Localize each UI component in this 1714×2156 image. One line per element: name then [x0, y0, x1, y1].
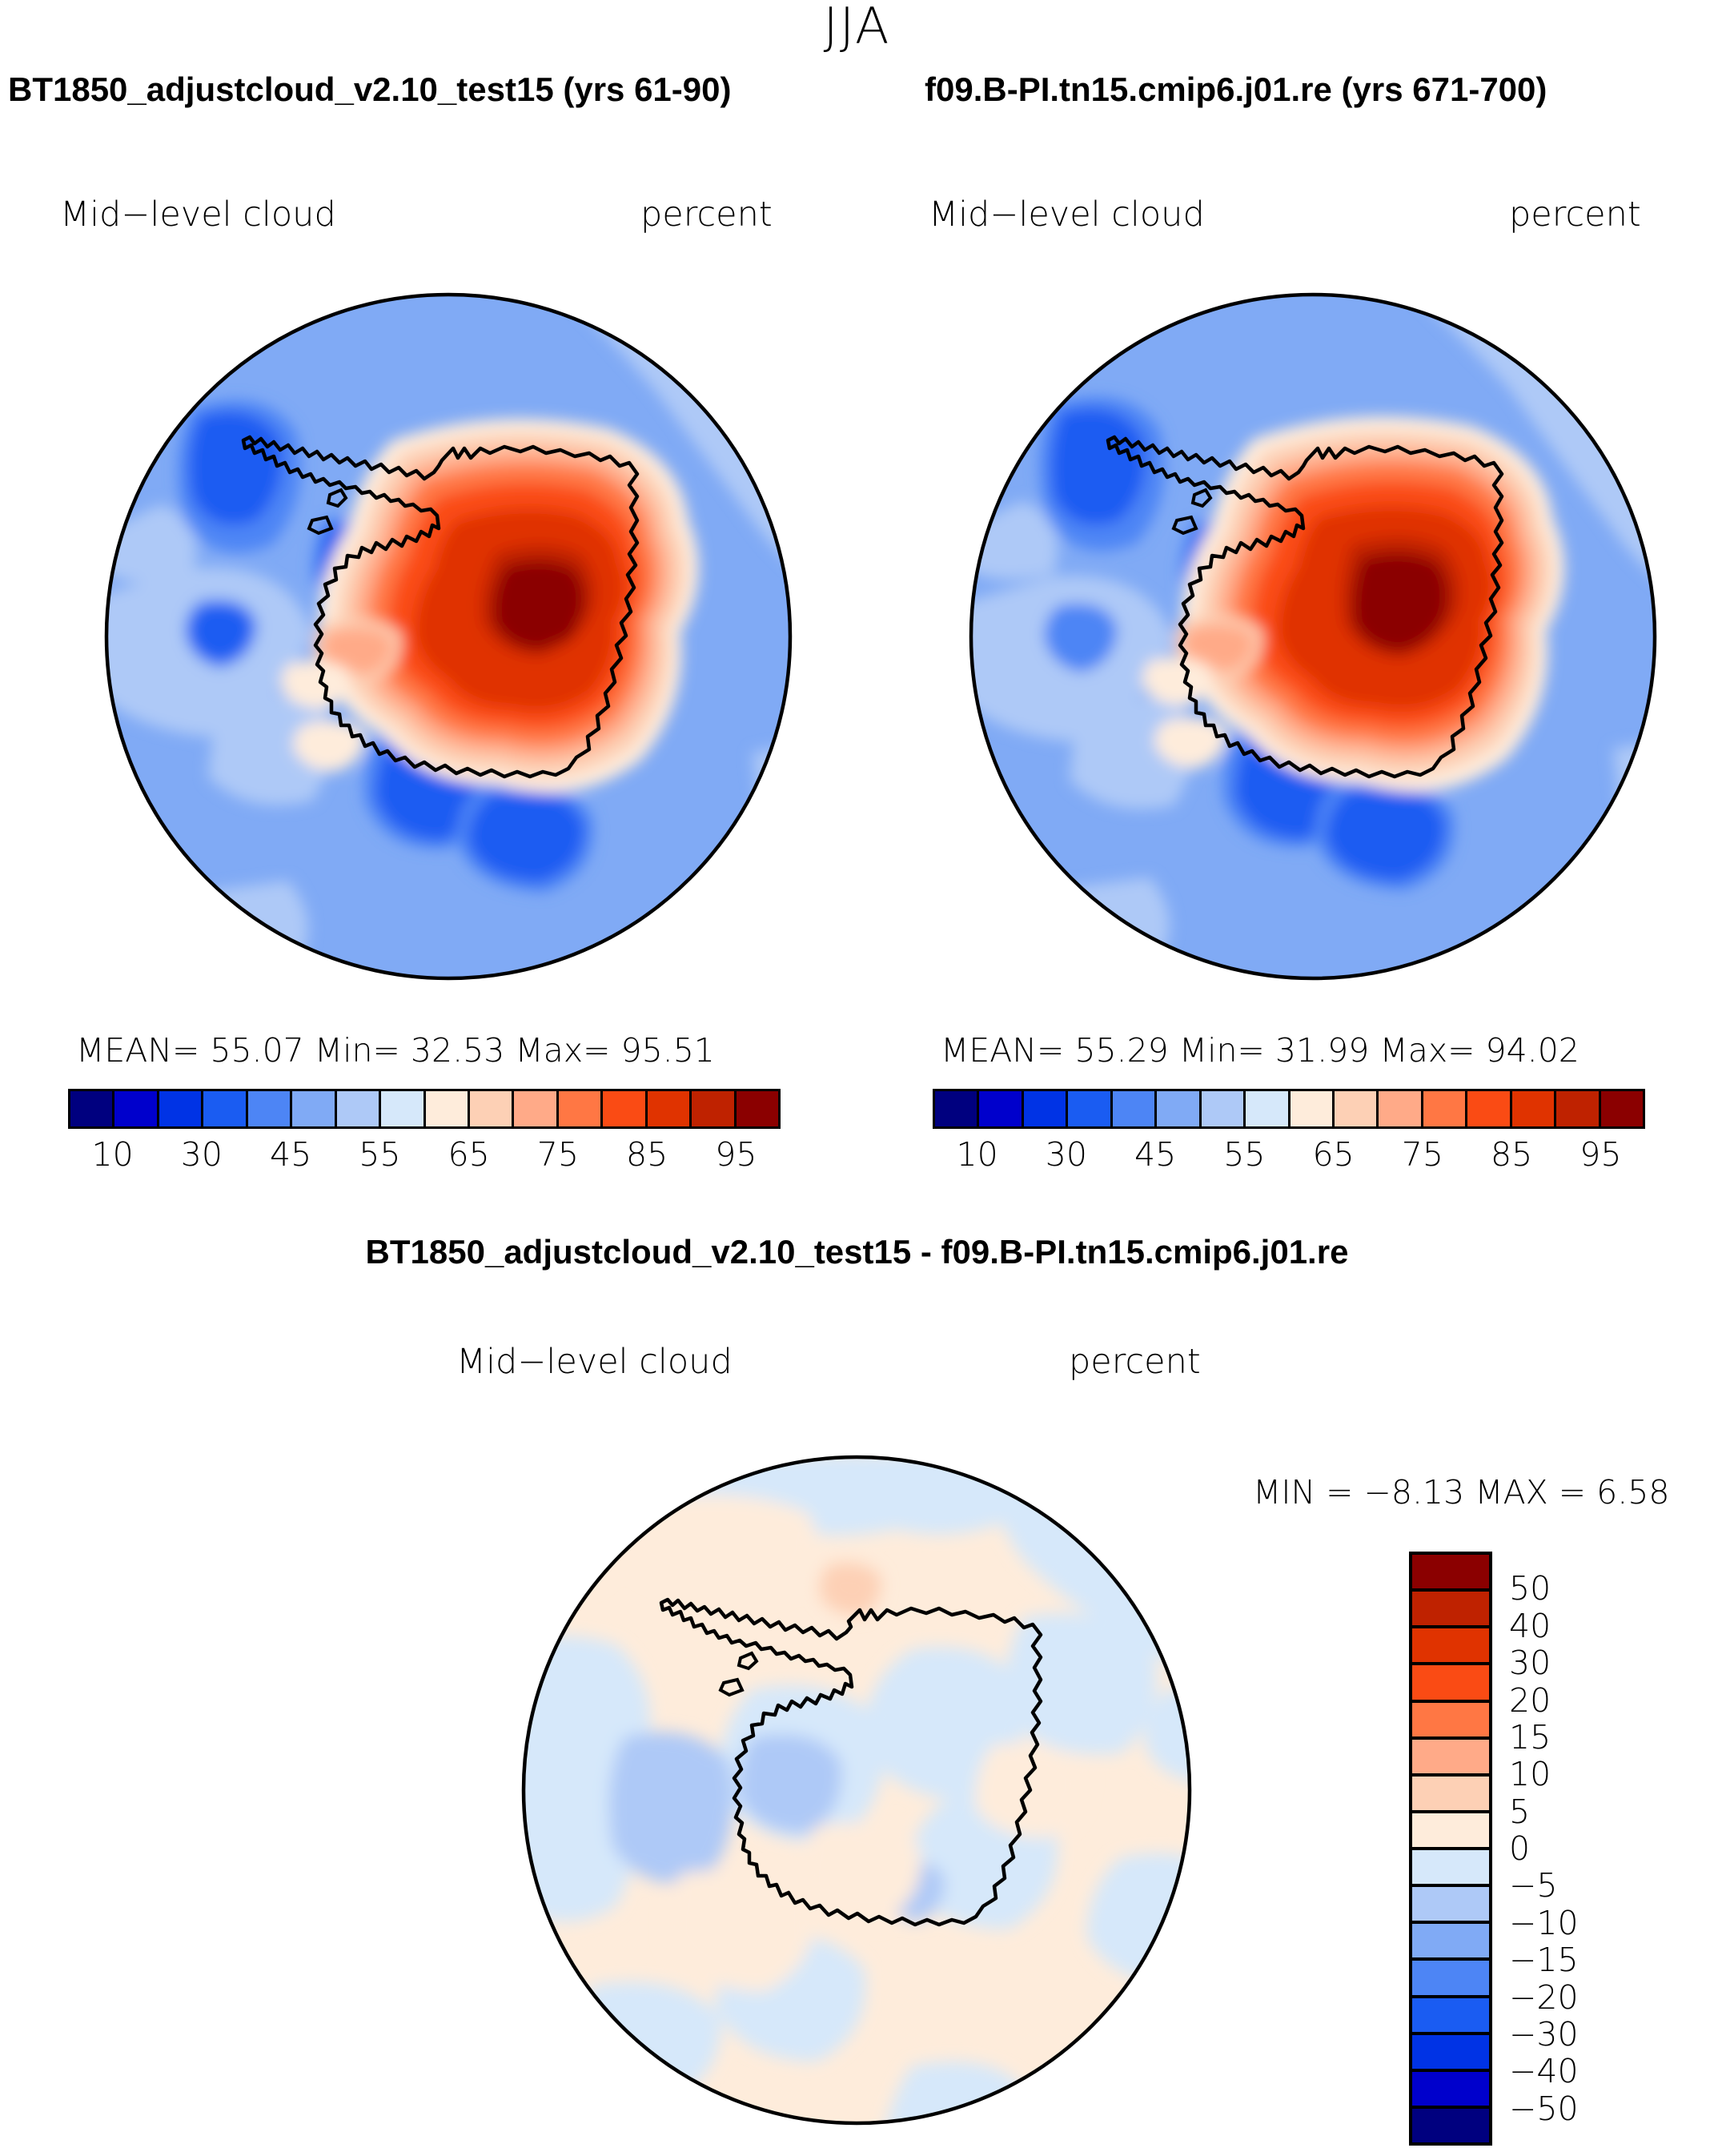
colorbar-tick-label: 45	[270, 1135, 311, 1174]
colorbar-tick-label: 0	[1509, 1829, 1530, 1868]
colorbar-tick-label: 30	[1046, 1135, 1087, 1174]
colorbar-segment	[1024, 1091, 1068, 1126]
colorbar-segment	[1556, 1091, 1600, 1126]
left-colorbar	[68, 1089, 781, 1129]
colorbar-tick-label: 65	[448, 1135, 490, 1174]
colorbar-segment	[337, 1091, 381, 1126]
colorbar-segment	[1068, 1091, 1112, 1126]
colorbar-segment	[1601, 1091, 1643, 1126]
season-title: JJA	[0, 0, 1714, 55]
colorbar-segment	[1412, 1961, 1489, 1997]
colorbar-tick-label: 85	[626, 1135, 668, 1174]
colorbar-segment	[1379, 1091, 1423, 1126]
diff-units-label: percent	[1069, 1342, 1201, 1382]
colorbar-segment	[603, 1091, 647, 1126]
colorbar-segment	[114, 1091, 159, 1126]
diff-field-label: Mid−level cloud	[456, 1342, 733, 1382]
colorbar-tick-label: −40	[1509, 2052, 1579, 2090]
left-colorbar-ticks: 1030455565758595	[68, 1135, 781, 1179]
colorbar-segment	[979, 1091, 1023, 1126]
colorbar-tick-label: 95	[715, 1135, 757, 1174]
colorbar-segment	[1412, 1850, 1489, 1887]
colorbar-segment	[1157, 1091, 1201, 1126]
colorbar-segment	[737, 1091, 778, 1126]
right-stats: MEAN= 55.29 Min= 31.99 Max= 94.02	[941, 1031, 1580, 1070]
colorbar-segment	[1412, 1703, 1489, 1740]
colorbar-segment	[1246, 1091, 1290, 1126]
colorbar-segment	[426, 1091, 470, 1126]
colorbar-segment	[1412, 1665, 1489, 1702]
colorbar-segment	[1412, 1740, 1489, 1777]
right-panel-title: f09.B-PI.tn15.cmip6.j01.re (yrs 671-700)	[925, 70, 1547, 109]
colorbar-segment	[470, 1091, 514, 1126]
colorbar-segment	[1412, 1555, 1489, 1592]
right-units-label: percent	[1509, 195, 1641, 235]
left-units-label: percent	[640, 195, 773, 235]
colorbar-segment	[1412, 2035, 1489, 2072]
colorbar-segment	[1335, 1091, 1379, 1126]
colorbar-segment	[559, 1091, 603, 1126]
colorbar-segment	[1412, 2072, 1489, 2109]
colorbar-segment	[381, 1091, 425, 1126]
diff-map	[464, 1425, 1249, 2156]
colorbar-segment	[1412, 1777, 1489, 1813]
diff-colorbar-ticks: 50403020151050−5−10−15−20−30−40−50	[1509, 1552, 1669, 2146]
colorbar-segment	[1202, 1091, 1246, 1126]
left-field-label: Mid−level cloud	[60, 195, 336, 235]
colorbar-tick-label: 10	[92, 1135, 134, 1174]
colorbar-tick-label: −5	[1509, 1866, 1557, 1905]
colorbar-segment	[1412, 1924, 1489, 1961]
colorbar-segment	[1423, 1091, 1467, 1126]
right-colorbar	[933, 1089, 1645, 1129]
colorbar-tick-label: 55	[359, 1135, 400, 1174]
colorbar-tick-label: 65	[1313, 1135, 1355, 1174]
colorbar-tick-label: 15	[1509, 1718, 1551, 1757]
colorbar-segment	[1467, 1091, 1511, 1126]
colorbar-tick-label: −50	[1509, 2090, 1579, 2128]
colorbar-tick-label: 30	[181, 1135, 223, 1174]
colorbar-tick-label: 40	[1509, 1607, 1551, 1645]
diff-colorbar	[1409, 1552, 1492, 2146]
colorbar-segment	[248, 1091, 292, 1126]
colorbar-segment	[70, 1091, 114, 1126]
colorbar-tick-label: 75	[1402, 1135, 1443, 1174]
colorbar-segment	[1412, 1887, 1489, 1924]
colorbar-tick-label: 20	[1509, 1681, 1551, 1720]
right-map	[913, 256, 1713, 1017]
left-stats: MEAN= 55.07 Min= 32.53 Max= 95.51	[76, 1031, 715, 1070]
colorbar-segment	[159, 1091, 203, 1126]
left-panel-title: BT1850_adjustcloud_v2.10_test15 (yrs 61-…	[8, 70, 731, 109]
colorbar-segment	[1412, 2109, 1489, 2142]
right-field-label: Mid−level cloud	[929, 195, 1205, 235]
colorbar-segment	[1113, 1091, 1157, 1126]
left-map	[48, 256, 849, 1017]
colorbar-tick-label: 85	[1491, 1135, 1532, 1174]
colorbar-segment	[1412, 1998, 1489, 2035]
colorbar-tick-label: 75	[537, 1135, 579, 1174]
colorbar-segment	[203, 1091, 247, 1126]
diff-panel-title: BT1850_adjustcloud_v2.10_test15 - f09.B-…	[0, 1233, 1714, 1271]
colorbar-tick-label: 10	[1509, 1755, 1551, 1793]
colorbar-segment	[1412, 1628, 1489, 1665]
colorbar-segment	[1291, 1091, 1335, 1126]
colorbar-segment	[1412, 1813, 1489, 1850]
diff-stats: MIN = −8.13 MAX = 6.58	[1253, 1473, 1669, 1512]
colorbar-segment	[648, 1091, 692, 1126]
colorbar-tick-label: −30	[1509, 2015, 1579, 2054]
colorbar-tick-label: 45	[1134, 1135, 1176, 1174]
colorbar-tick-label: −10	[1509, 1904, 1579, 1942]
colorbar-tick-label: 5	[1509, 1793, 1530, 1831]
colorbar-tick-label: 30	[1509, 1644, 1551, 1682]
colorbar-segment	[514, 1091, 558, 1126]
colorbar-segment	[292, 1091, 336, 1126]
colorbar-tick-label: 95	[1580, 1135, 1621, 1174]
colorbar-segment	[1512, 1091, 1556, 1126]
colorbar-segment	[692, 1091, 736, 1126]
colorbar-tick-label: 55	[1223, 1135, 1265, 1174]
right-colorbar-ticks: 1030455565758595	[933, 1135, 1645, 1179]
colorbar-tick-label: 50	[1509, 1569, 1551, 1608]
colorbar-tick-label: −20	[1509, 1978, 1579, 2017]
colorbar-tick-label: 10	[957, 1135, 998, 1174]
colorbar-segment	[935, 1091, 979, 1126]
colorbar-segment	[1412, 1592, 1489, 1628]
colorbar-tick-label: −15	[1509, 1941, 1579, 1979]
